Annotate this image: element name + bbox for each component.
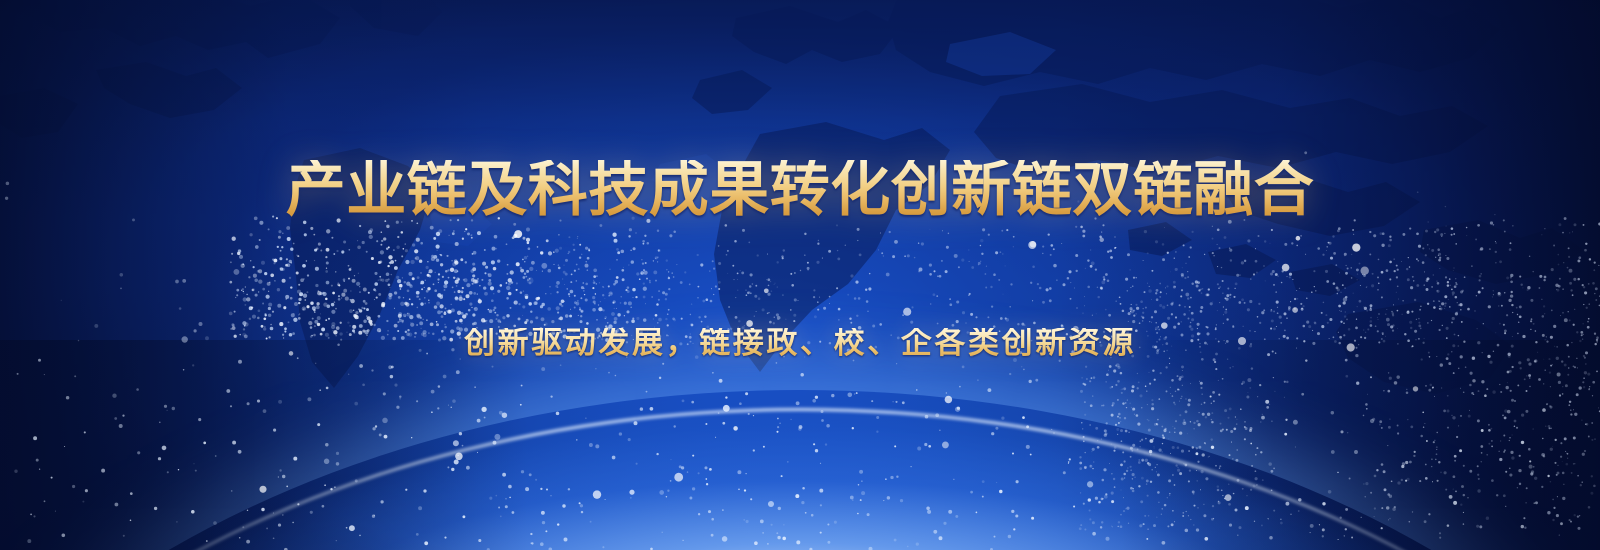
hero-banner: 产业链及科技成果转化创新链双链融合 创新驱动发展，链接政、校、企各类创新资源 <box>0 0 1600 550</box>
